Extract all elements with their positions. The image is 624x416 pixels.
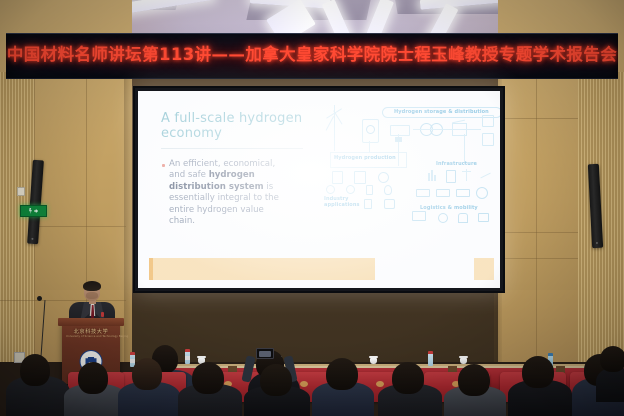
label-industry-applications: Industry applications xyxy=(324,197,354,208)
reactor-icon xyxy=(354,171,366,184)
label-hydrogen-storage: Hydrogen storage & distribution xyxy=(394,109,489,115)
smartphone[interactable] xyxy=(256,348,274,359)
dispenser-icon xyxy=(482,115,494,127)
industry-icon xyxy=(366,185,373,195)
projection-screen: A full-scale hydrogen economy An efficie… xyxy=(133,86,505,293)
chart-arrow-icon xyxy=(480,173,490,178)
seat-ornament xyxy=(300,381,308,387)
audience-head xyxy=(326,358,358,390)
connector-line xyxy=(464,134,465,164)
paper-cup xyxy=(460,358,467,364)
bottle-label xyxy=(130,359,135,363)
label-logistics-mobility: Logistics & mobility xyxy=(420,205,478,211)
building-icon xyxy=(428,173,430,181)
compressor-icon xyxy=(390,125,410,136)
slide-title: A full-scale hydrogen economy xyxy=(161,111,311,141)
water-bottle xyxy=(428,353,433,366)
speaker-led xyxy=(596,242,598,244)
storage-icon xyxy=(378,172,389,183)
audience-head xyxy=(522,356,554,388)
presentation-slide: A full-scale hydrogen economy An efficie… xyxy=(138,91,500,288)
running-man-icon xyxy=(29,208,33,214)
cup-lid xyxy=(197,356,206,358)
production-group-box xyxy=(330,152,407,168)
forklift-icon xyxy=(412,211,426,221)
microphone-head xyxy=(37,296,42,301)
ship-icon xyxy=(476,187,488,199)
audience-head xyxy=(260,364,292,396)
exit-sign xyxy=(20,205,47,217)
podium-name-en: University of Science and Technology Bei… xyxy=(66,335,116,338)
slide-accent-edge xyxy=(149,258,153,280)
bus-icon xyxy=(456,189,470,197)
dispenser-icon xyxy=(482,133,494,146)
turbine-blade xyxy=(333,110,342,124)
speaker-face-shadow xyxy=(86,292,98,299)
label-infrastructure: Infrastructure xyxy=(436,161,477,167)
slide-accent-right xyxy=(474,258,494,280)
building-icon xyxy=(434,175,436,181)
led-banner: 中国材料名师讲坛第113讲——加拿大皇家科学院院士程玉峰教授专题学术报告会 xyxy=(6,33,618,79)
cup-lid xyxy=(459,356,468,358)
arrow-icon xyxy=(34,209,38,213)
audience-person xyxy=(596,368,624,402)
connector-line xyxy=(413,129,481,130)
paper-cup xyxy=(370,358,377,364)
industry-icon xyxy=(384,185,392,195)
banner-text: 中国材料名师讲坛第113讲——加拿大皇家科学院院士程玉峰教授专题学术报告会 xyxy=(6,41,618,65)
bottle-label xyxy=(185,356,190,360)
lecture-hall-photo: 中国材料名师讲坛第113讲——加拿大皇家科学院院士程玉峰教授专题学术报告会 A … xyxy=(0,0,624,416)
audience-head xyxy=(458,364,490,396)
industry-icon xyxy=(326,185,335,194)
pipe-line xyxy=(398,144,399,166)
audience-head xyxy=(392,362,424,394)
seat-ornament xyxy=(376,381,384,387)
bottle-cap xyxy=(130,352,135,355)
industry-icon xyxy=(364,199,372,209)
car-icon xyxy=(438,213,448,223)
electrolyser-dial xyxy=(366,125,375,134)
cup-lid xyxy=(369,356,378,358)
light-switch[interactable] xyxy=(17,187,25,196)
wall-seam xyxy=(498,232,578,233)
bullet-marker xyxy=(162,164,165,167)
plane-icon xyxy=(478,213,489,222)
audience-head xyxy=(132,358,162,390)
audience-head xyxy=(600,346,624,372)
audience-head xyxy=(192,362,224,394)
wall-corner-shadow xyxy=(124,72,132,362)
speaker-badge xyxy=(101,312,104,317)
truck-icon xyxy=(436,189,450,197)
wall-seam xyxy=(498,258,578,259)
audience-head xyxy=(20,354,50,386)
audience-head xyxy=(78,362,108,394)
train-icon xyxy=(416,189,430,197)
speaker-led xyxy=(31,238,33,240)
industry-icon xyxy=(346,185,355,194)
speaker-hair xyxy=(83,281,101,291)
drone-icon xyxy=(458,213,468,223)
pole-arm xyxy=(462,171,471,172)
plant-icon xyxy=(332,171,343,184)
hydrogen-economy-diagram: Hydrogen production Hydrogen storage & d… xyxy=(316,99,496,260)
grid-icon xyxy=(446,170,456,183)
wall-seam xyxy=(498,118,578,119)
wall-seam xyxy=(0,300,126,301)
wall-seam xyxy=(34,226,126,227)
bottle-cap xyxy=(548,353,553,356)
podium-top xyxy=(58,318,124,326)
slide-accent-band xyxy=(149,258,375,280)
podium-name-cn: 北京科技大学 xyxy=(66,328,116,335)
building-icon xyxy=(431,170,433,181)
valve-icon xyxy=(395,137,402,142)
industry-icon xyxy=(384,199,395,209)
title-divider xyxy=(161,148,303,149)
turbine-blade xyxy=(326,116,334,130)
bottle-cap xyxy=(185,349,190,352)
phone-screen xyxy=(259,351,271,357)
connector-line xyxy=(332,167,390,168)
wall-seam xyxy=(536,72,537,362)
bottle-cap xyxy=(428,351,433,354)
slide-bullet-text: An efficient, economical, and safe hydro… xyxy=(169,159,291,227)
